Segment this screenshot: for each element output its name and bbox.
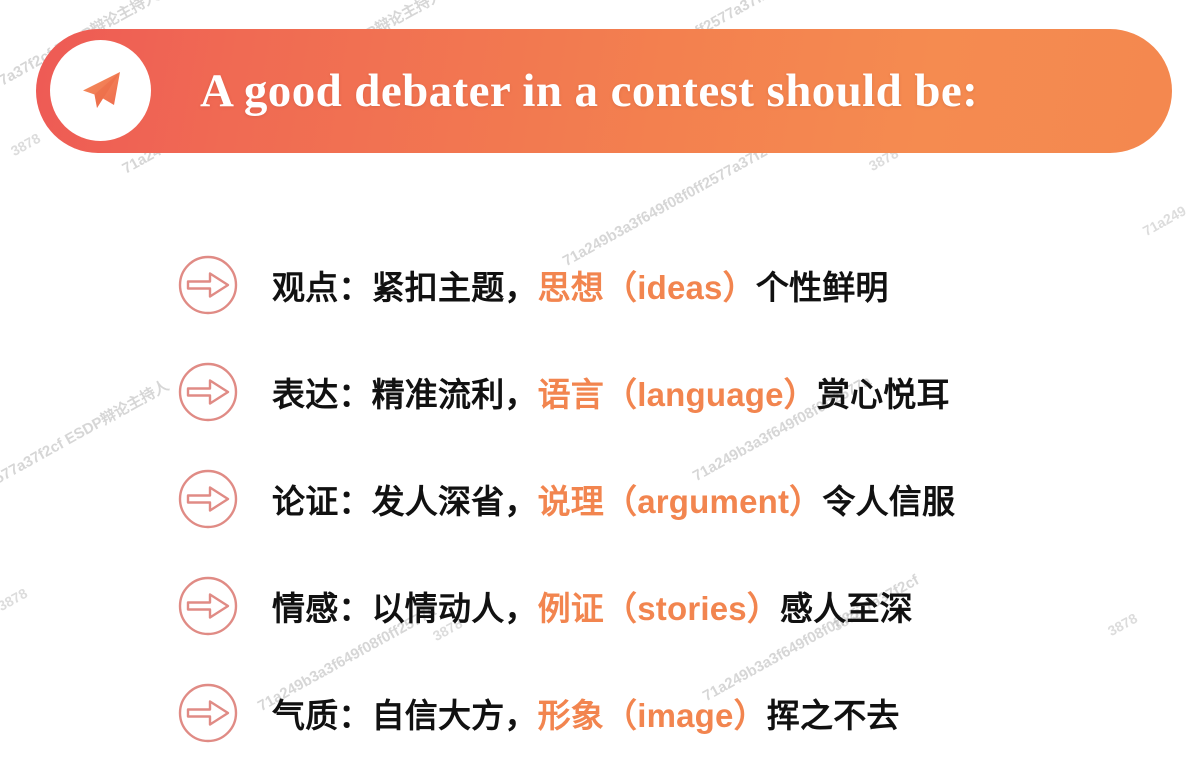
list-item-lead: 观点：紧扣主题，	[272, 269, 538, 306]
list-item-english: （stories）	[604, 590, 780, 627]
list-item-lead: 论证：发人深省，	[272, 483, 538, 520]
list-item-english: （language）	[604, 376, 817, 413]
list-item-tail: 令人信服	[822, 483, 955, 520]
list-item-lead: 气质：自信大方，	[272, 697, 538, 734]
list-item-english: （ideas）	[604, 269, 756, 306]
list-item-text: 情感：以情动人，例证（stories）感人至深	[272, 582, 913, 630]
list-item-tail: 个性鲜明	[756, 269, 889, 306]
circle-arrow-right-icon	[175, 359, 241, 425]
circle-arrow-right-icon	[175, 680, 241, 746]
list-item-text: 论证：发人深省，说理（argument）令人信服	[272, 475, 955, 523]
list-item-tail: 赏心悦耳	[817, 376, 950, 413]
header-icon-badge	[50, 40, 151, 141]
list-item: 情感：以情动人，例证（stories）感人至深	[0, 552, 1200, 659]
list-item-english: （image）	[604, 697, 767, 734]
list-item-lead: 表达：精准流利，	[272, 376, 538, 413]
list-item-keyword: 形象	[538, 697, 604, 734]
list-item-text: 气质：自信大方，形象（image）挥之不去	[272, 689, 900, 737]
circle-arrow-right-icon	[175, 252, 241, 318]
page-title: A good debater in a contest should be:	[200, 64, 978, 118]
list-item-lead: 情感：以情动人，	[272, 590, 538, 627]
circle-arrow-right-icon	[175, 573, 241, 639]
list-item: 气质：自信大方，形象（image）挥之不去	[0, 659, 1200, 766]
list-item-keyword: 思想	[538, 269, 604, 306]
paper-plane-icon	[73, 63, 129, 119]
list-item: 观点：紧扣主题，思想（ideas）个性鲜明	[0, 231, 1200, 338]
list-item-text: 观点：紧扣主题，思想（ideas）个性鲜明	[272, 261, 889, 309]
watermark: 3878	[8, 130, 43, 159]
circle-arrow-right-icon	[175, 466, 241, 532]
list-item-keyword: 说理	[538, 483, 604, 520]
list-item-english: （argument）	[604, 483, 822, 520]
debater-qualities-list: 观点：紧扣主题，思想（ideas）个性鲜明 表达：精准流利，语言（languag…	[0, 231, 1200, 766]
header-banner: A good debater in a contest should be:	[36, 29, 1172, 153]
list-item: 表达：精准流利，语言（language）赏心悦耳	[0, 338, 1200, 445]
list-item-text: 表达：精准流利，语言（language）赏心悦耳	[272, 368, 950, 416]
list-item-tail: 挥之不去	[767, 697, 900, 734]
list-item-keyword: 例证	[538, 590, 604, 627]
list-item-tail: 感人至深	[780, 590, 913, 627]
list-item-keyword: 语言	[538, 376, 604, 413]
list-item: 论证：发人深省，说理（argument）令人信服	[0, 445, 1200, 552]
